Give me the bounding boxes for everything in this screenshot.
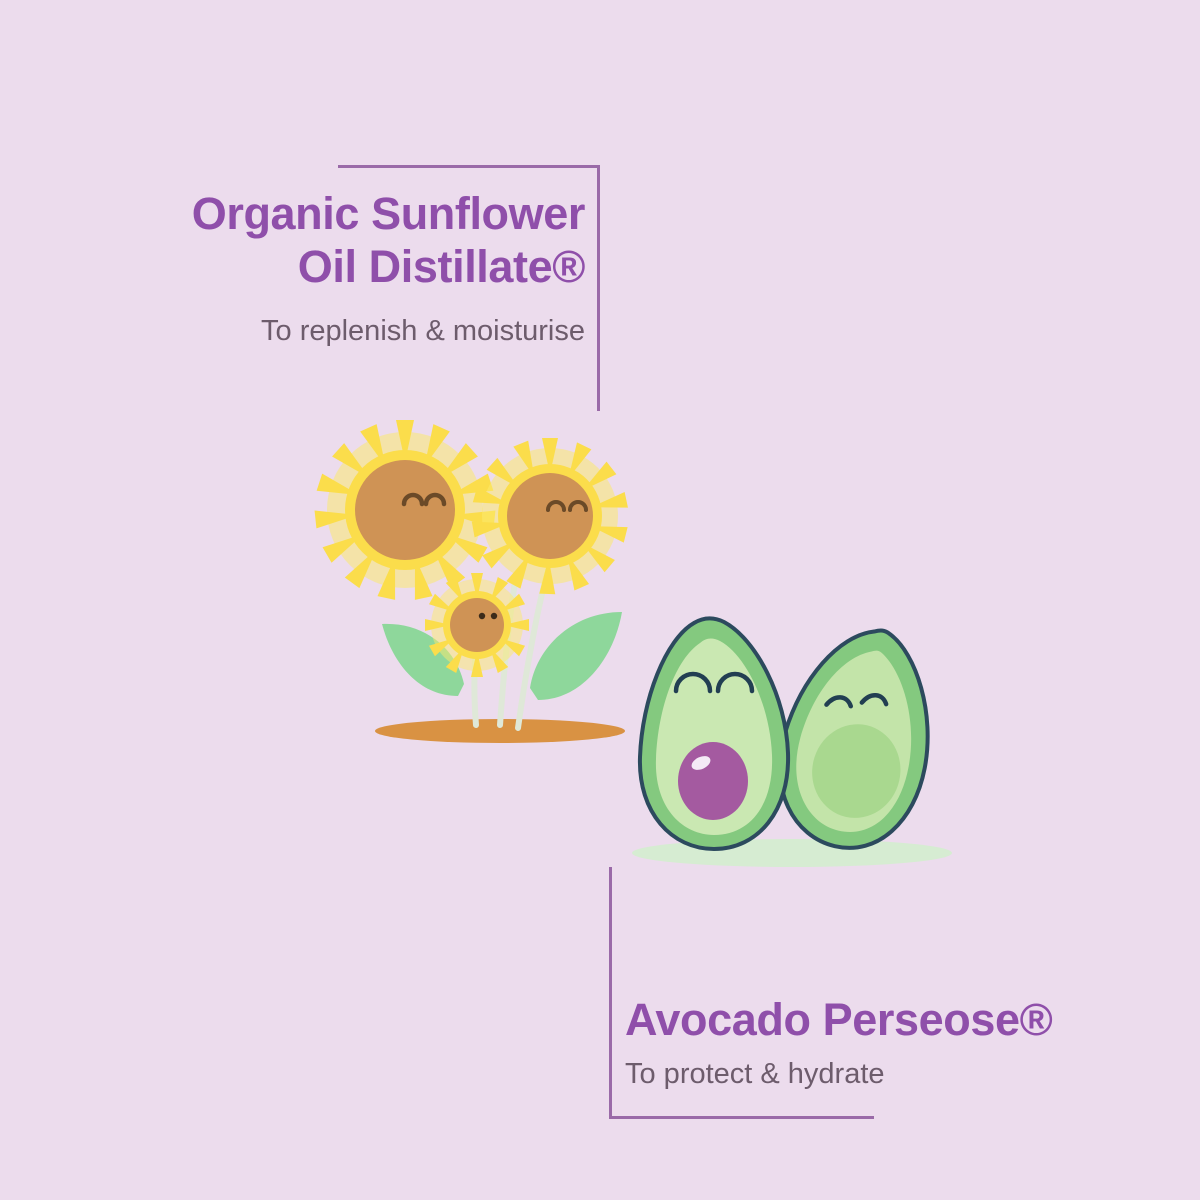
avocado-left	[640, 618, 788, 849]
bottom-callout-heading: Avocado Perseose®	[625, 994, 1145, 1047]
sunflower-large-center	[355, 460, 455, 560]
bottom-callout-subheading: To protect & hydrate	[625, 1056, 1145, 1094]
sunflower-medium	[472, 438, 628, 594]
avocado-illustration	[600, 595, 980, 875]
infographic-canvas: Organic Sunflower Oil Distillate® To rep…	[0, 0, 1200, 1200]
avocado-left-pit	[678, 742, 748, 820]
top-callout-subheading: To replenish & moisturise	[60, 313, 585, 351]
sunflower-medium-center	[507, 473, 593, 559]
top-callout: Organic Sunflower Oil Distillate® To rep…	[60, 188, 585, 351]
top-callout-heading: Organic Sunflower Oil Distillate®	[60, 188, 585, 293]
bottom-callout: Avocado Perseose® To protect & hydrate	[625, 994, 1145, 1093]
avocado-shadow	[632, 839, 952, 867]
avocado-right	[762, 614, 952, 862]
sunflower-small-center	[450, 598, 504, 652]
sunflower-large	[315, 420, 496, 600]
